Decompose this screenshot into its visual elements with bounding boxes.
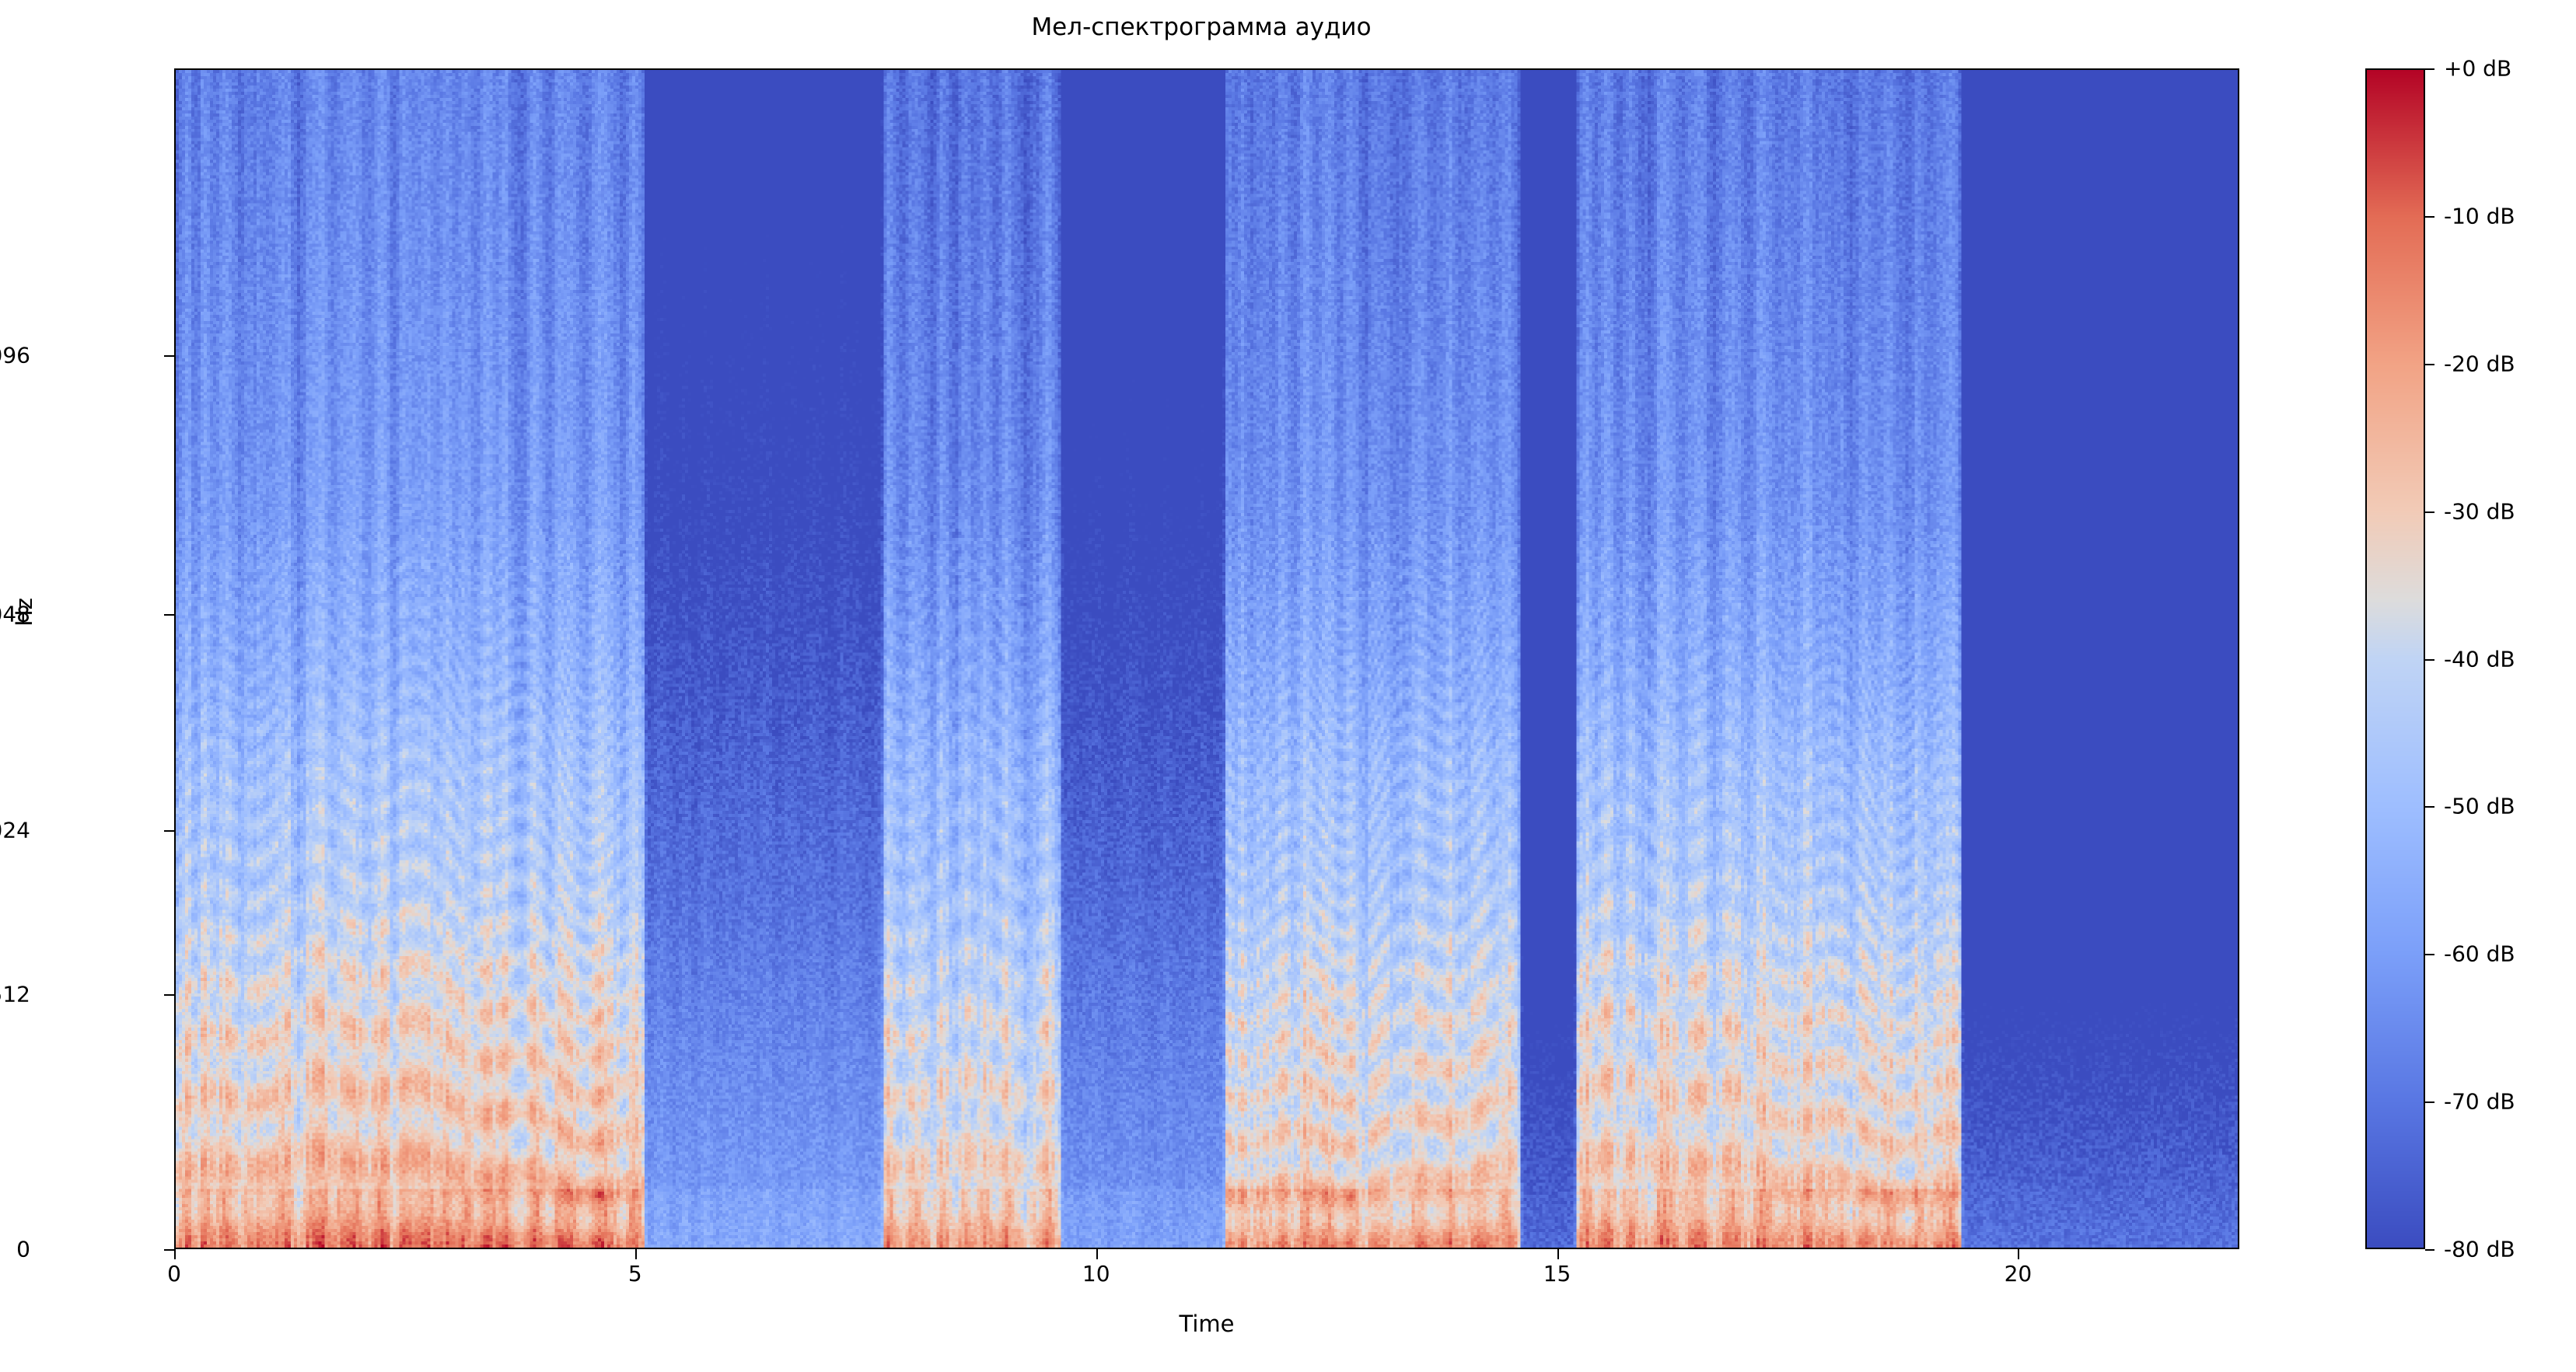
colorbar-tick-mark [2425,659,2434,661]
x-tick-label-20: 20 [2005,1261,2032,1286]
x-axis-label: Time [0,1311,2413,1337]
x-tick-mark [635,1249,637,1259]
colorbar-tick-mark [2425,1249,2434,1251]
y-tick-mark [164,830,174,832]
colorbar-tick-label-10dB: -10 dB [2444,203,2515,229]
x-tick-mark [1557,1249,1559,1259]
colorbar-tick-mark [2425,954,2434,955]
colorbar-tick-mark [2425,511,2434,513]
spectrogram-plot-area[interactable] [174,68,2239,1249]
x-tick-mark [1096,1249,1098,1259]
colorbar-tick-label-60dB: -60 dB [2444,941,2515,967]
spectrogram-image [176,70,2238,1248]
colorbar-tick-label-70dB: -70 dB [2444,1089,2515,1115]
y-tick-mark [164,1249,174,1251]
colorbar-tick-mark [2425,364,2434,365]
colorbar-tick-mark [2425,216,2434,218]
x-tick-label-10: 10 [1082,1261,1110,1286]
y-tick-mark [164,994,174,996]
y-tick-label-4096: 4096 [0,342,30,368]
x-tick-label-5: 5 [628,1261,642,1286]
x-tick-mark [2018,1249,2019,1259]
colorbar-tick-label-20dB: -20 dB [2444,351,2515,376]
colorbar-tick-mark [2425,68,2434,70]
colorbar-tick-label-50dB: -50 dB [2444,794,2515,819]
y-tick-mark [164,355,174,357]
colorbar-tick-mark [2425,1101,2434,1103]
y-tick-label-1024: 1024 [0,818,30,843]
y-tick-label-2048: 2048 [0,601,30,627]
colorbar-tick-label-0dB: +0 dB [2444,56,2511,82]
x-tick-label-15: 15 [1543,1261,1571,1286]
y-tick-label-0: 0 [16,1237,30,1262]
colorbar-gradient [2365,68,2425,1249]
colorbar-tick-mark [2425,806,2434,808]
y-tick-mark [164,614,174,616]
mel-spectrogram-figure: Мел-спектрограмма аудио Hz 0512102420484… [0,0,2576,1372]
page-title: Мел-спектрограмма аудио [0,14,2403,40]
x-tick-mark [174,1249,176,1259]
colorbar-tick-label-30dB: -30 dB [2444,498,2515,524]
y-tick-label-512: 512 [0,981,30,1007]
x-tick-label-0: 0 [167,1261,181,1286]
colorbar-tick-label-80dB: -80 dB [2444,1237,2515,1262]
colorbar[interactable] [2365,68,2425,1249]
colorbar-tick-label-40dB: -40 dB [2444,646,2515,672]
